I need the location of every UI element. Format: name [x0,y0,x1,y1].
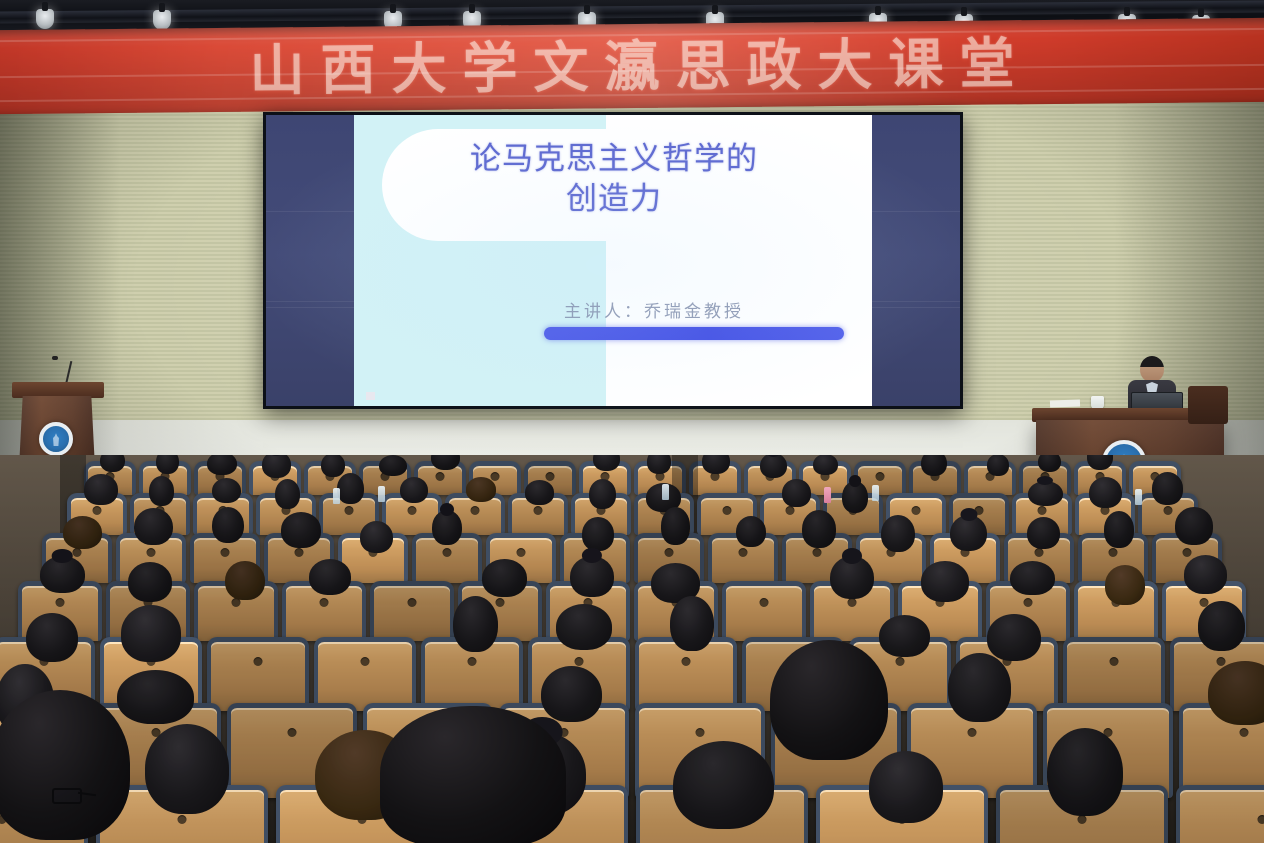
audience-member-head [948,653,1011,722]
audience-member-head [570,556,614,597]
audience-member-head [453,596,498,653]
audience-member-head [432,510,463,546]
seat-row [0,533,1264,583]
slide-corner-mark [366,392,375,400]
seat[interactable] [421,637,523,711]
water-bottle-1 [333,488,340,504]
speaker-head [1140,356,1164,382]
slide-presenter-line: 主讲人：乔瑞金教授 [564,297,744,322]
audience-member-head [1087,455,1113,470]
seat[interactable] [194,581,278,641]
seat[interactable] [1063,637,1165,711]
audience-member-head [84,474,118,505]
audience-member-head [736,516,766,547]
seat[interactable] [722,581,806,641]
left-podium-emblem [39,422,73,456]
audience-member-head [582,517,614,551]
audience-member-head [134,508,173,546]
audience-member-head [309,559,351,595]
seat-row [0,581,1264,641]
audience-member-head [881,515,915,553]
seat[interactable] [964,461,1016,495]
audience-member-head [760,455,787,478]
audience-member-head [431,455,459,470]
audience-member-head [1184,555,1228,594]
audience-member-head [149,476,174,506]
projection-screen-surface: 论马克思主义哲学的 创造力 主讲人：乔瑞金教授 [266,115,960,406]
audience-member-head [702,455,730,474]
seat[interactable] [1074,581,1158,641]
seat[interactable] [314,637,416,711]
seat[interactable] [996,785,1168,843]
seat[interactable] [1176,785,1264,843]
audience-member-head [782,479,812,507]
audience-member-head [262,455,291,478]
seat-row [0,785,1264,843]
audience-member-head [212,478,241,503]
audience-member-head [207,455,237,475]
audience-seating-area [0,455,1264,843]
water-bottle-6 [1135,489,1142,505]
slide-letterbox-right [872,115,960,406]
foreground-student-right [770,640,890,840]
audience-member-head [525,480,554,504]
presentation-slide: 论马克思主义哲学的 创造力 主讲人：乔瑞金教授 [354,115,872,406]
eyeglasses [52,788,82,804]
audience-member-head [830,556,874,599]
audience-member-head [225,561,264,600]
audience-member-head [360,521,393,553]
spotlight-2 [153,10,171,30]
audience-member-head [482,559,527,597]
audience-member-head [40,556,85,593]
foreground-student-head [0,690,130,840]
lecture-hall-scene: 山西大学文瀛思政大课堂 论马克思主义哲学的 创造力 主讲人：乔瑞金教授 [0,0,1264,843]
podium-papers [1050,399,1080,407]
audience-member-head [281,512,321,548]
audience-member-head [400,477,428,503]
seat[interactable] [282,581,366,641]
audience-member-head [1198,601,1244,650]
audience-member-head [1208,661,1264,725]
audience-member-head [100,455,125,472]
audience-member-head [1105,565,1145,604]
audience-member-head [275,479,300,509]
audience-member-head [647,455,671,474]
slide-title-line-1: 论马克思主义哲学的 [394,139,834,179]
audience-member-head [321,455,345,477]
audience-member-head [1152,472,1183,504]
audience-member-head [1175,507,1213,544]
audience-member-head [813,455,838,475]
audience-member-head [842,481,868,513]
audience-member-head [121,605,182,662]
seat[interactable] [708,533,778,583]
seat[interactable] [370,581,454,641]
audience-member-head [802,510,836,548]
audience-member-head [212,507,244,544]
slide-accent-bar [544,327,844,340]
audience-member-head [589,479,616,509]
podium-side-panel [1188,386,1228,424]
audience-member-head [1089,477,1122,508]
audience-member-head [921,561,968,602]
slide-letterbox-left [266,115,354,406]
seat[interactable] [207,637,309,711]
audience-member-head [670,596,715,651]
audience-member-head [987,614,1041,661]
audience-member-head [156,455,179,474]
foreground-student [0,690,160,843]
audience-member-head [950,515,987,551]
projection-screen: 论马克思主义哲学的 创造力 主讲人：乔瑞金教授 [263,112,963,409]
audience-member-head [337,473,365,504]
foreground-student-center [380,706,570,843]
seat-row [0,493,1264,535]
seat[interactable] [1179,703,1264,798]
audience-member-head [128,562,172,602]
audience-member-head [593,455,621,471]
seat[interactable] [909,461,961,495]
water-bottle-2 [378,486,385,502]
slide-title-line-2: 创造力 [394,179,834,219]
audience-member-head [1028,481,1063,507]
audience-member-head [1038,455,1061,472]
audience-member-head [1010,561,1055,596]
water-bottle-4 [824,487,831,503]
audience-member-head [987,455,1009,476]
audience-member-head [661,507,691,545]
audience-member-head [921,455,947,476]
foreground-student-head [770,640,888,760]
event-banner: 山西大学文瀛思政大课堂 [0,18,1264,114]
audience-member-head [1027,517,1060,549]
audience-member-head [1047,728,1123,816]
audience-member-head [379,455,407,476]
audience-member-head [26,613,78,662]
water-bottle-3 [662,484,669,500]
audience-member-head [63,516,102,549]
seat[interactable] [412,533,482,583]
seat-row [0,461,1264,495]
seat[interactable] [635,637,737,711]
water-bottle-5 [872,485,879,501]
spotlight-1 [36,9,54,29]
audience-member-head [556,604,612,650]
left-podium-top [12,382,104,398]
audience-member-head [673,741,774,829]
microphone-head [52,356,58,360]
audience-member-head [466,477,497,502]
slide-title: 论马克思主义哲学的 创造力 [394,139,834,219]
foreground-student-head [380,706,566,843]
banner-title-text: 山西大学文瀛思政大课堂 [0,24,1264,110]
seat[interactable] [508,493,568,535]
audience-member-head [1104,511,1134,548]
